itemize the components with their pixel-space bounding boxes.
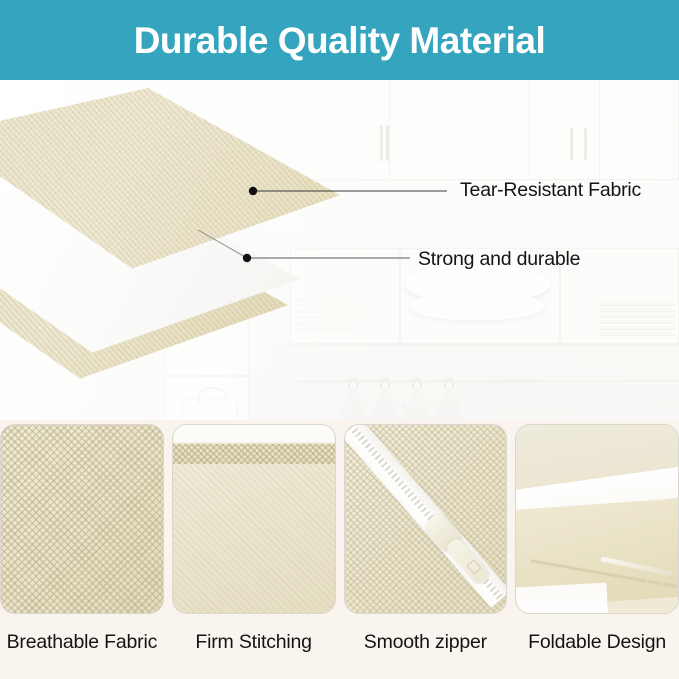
header-banner: Durable Quality Material xyxy=(0,0,679,80)
feature-swatch-smooth-zipper xyxy=(344,424,508,614)
feature-label-smooth-zipper: Smooth zipper xyxy=(344,620,508,664)
page-title: Durable Quality Material xyxy=(134,22,546,59)
product-feature-graphic: Durable Quality Material xyxy=(0,0,679,679)
feature-swatch-row xyxy=(0,424,679,614)
callout-label-tear-resistant: Tear-Resistant Fabric xyxy=(460,179,641,202)
hero-scene: Tear-Resistant Fabric Strong and durable xyxy=(0,80,679,420)
fabric-body xyxy=(173,464,335,613)
feature-swatch-firm-stitching xyxy=(172,424,336,614)
callout-label-strong-durable: Strong and durable xyxy=(418,248,580,271)
feature-label-breathable-fabric: Breathable Fabric xyxy=(0,620,164,664)
fold-bottom-highlight xyxy=(516,583,608,614)
feature-label-firm-stitching: Firm Stitching xyxy=(172,620,336,664)
feature-label-foldable-design: Foldable Design xyxy=(515,620,679,664)
mesh-band xyxy=(173,444,335,465)
feature-label-row: Breathable Fabric Firm Stitching Smooth … xyxy=(0,620,679,664)
feature-swatch-foldable-design xyxy=(515,424,679,614)
feature-swatch-breathable-fabric xyxy=(0,424,164,614)
